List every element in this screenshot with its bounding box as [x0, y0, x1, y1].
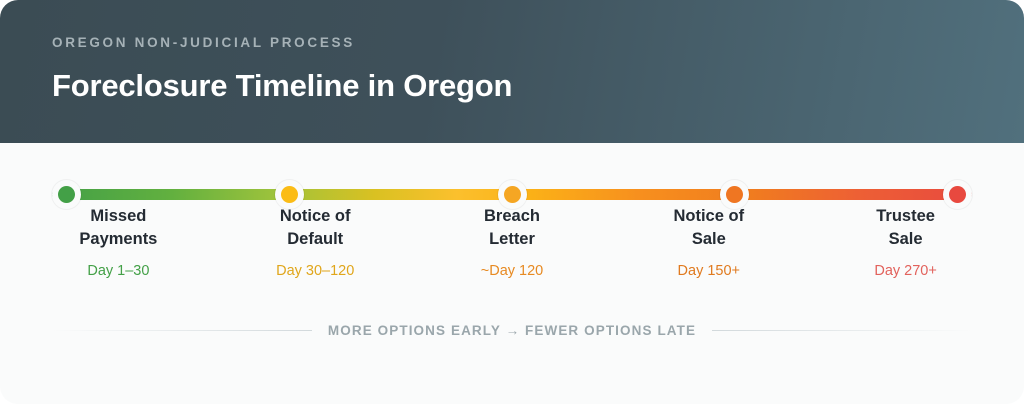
timeline-node[interactable]: [498, 180, 527, 209]
timeline-node-dot: [58, 186, 75, 203]
timeline-step: Trustee Sale Day 270+: [807, 205, 1004, 278]
timeline-node[interactable]: [52, 180, 81, 209]
footer-caption: MORE OPTIONS EARLY → FEWER OPTIONS LATE: [328, 323, 696, 338]
timeline-step: Missed Payments Day 1–30: [20, 205, 217, 278]
step-day-range: Day 1–30: [24, 264, 213, 279]
timeline: [52, 143, 972, 205]
timeline-node[interactable]: [275, 180, 304, 209]
timeline-node-dot: [281, 186, 298, 203]
timeline-steps: Missed Payments Day 1–30 Notice of Defau…: [20, 205, 1004, 278]
foreclosure-timeline-card: OREGON NON-JUDICIAL PROCESS Foreclosure …: [0, 0, 1024, 404]
divider-left: [52, 330, 312, 331]
timeline-step: Notice of Default Day 30–120: [217, 205, 414, 278]
step-title: Breach Letter: [418, 205, 607, 252]
footer-caption-row: MORE OPTIONS EARLY → FEWER OPTIONS LATE: [0, 323, 1024, 338]
timeline-step: Notice of Sale Day 150+: [610, 205, 807, 278]
timeline-step: Breach Letter ~Day 120: [414, 205, 611, 278]
card-body: Missed Payments Day 1–30 Notice of Defau…: [0, 143, 1024, 404]
step-day-range: Day 30–120: [221, 264, 410, 279]
page-title: Foreclosure Timeline in Oregon: [52, 70, 1024, 101]
header-eyebrow: OREGON NON-JUDICIAL PROCESS: [52, 36, 1024, 50]
timeline-node-dot: [726, 186, 743, 203]
step-title: Trustee Sale: [811, 205, 1000, 252]
timeline-node-dot: [949, 186, 966, 203]
timeline-node-dot: [504, 186, 521, 203]
step-day-range: ~Day 120: [418, 264, 607, 279]
card-header: OREGON NON-JUDICIAL PROCESS Foreclosure …: [0, 0, 1024, 143]
step-title: Notice of Default: [221, 205, 410, 252]
timeline-node[interactable]: [720, 180, 749, 209]
timeline-node[interactable]: [943, 180, 972, 209]
step-title: Notice of Sale: [614, 205, 803, 252]
step-title: Missed Payments: [24, 205, 213, 252]
divider-right: [712, 330, 972, 331]
step-day-range: Day 150+: [614, 264, 803, 279]
step-day-range: Day 270+: [811, 264, 1000, 279]
timeline-nodes: [52, 179, 972, 209]
